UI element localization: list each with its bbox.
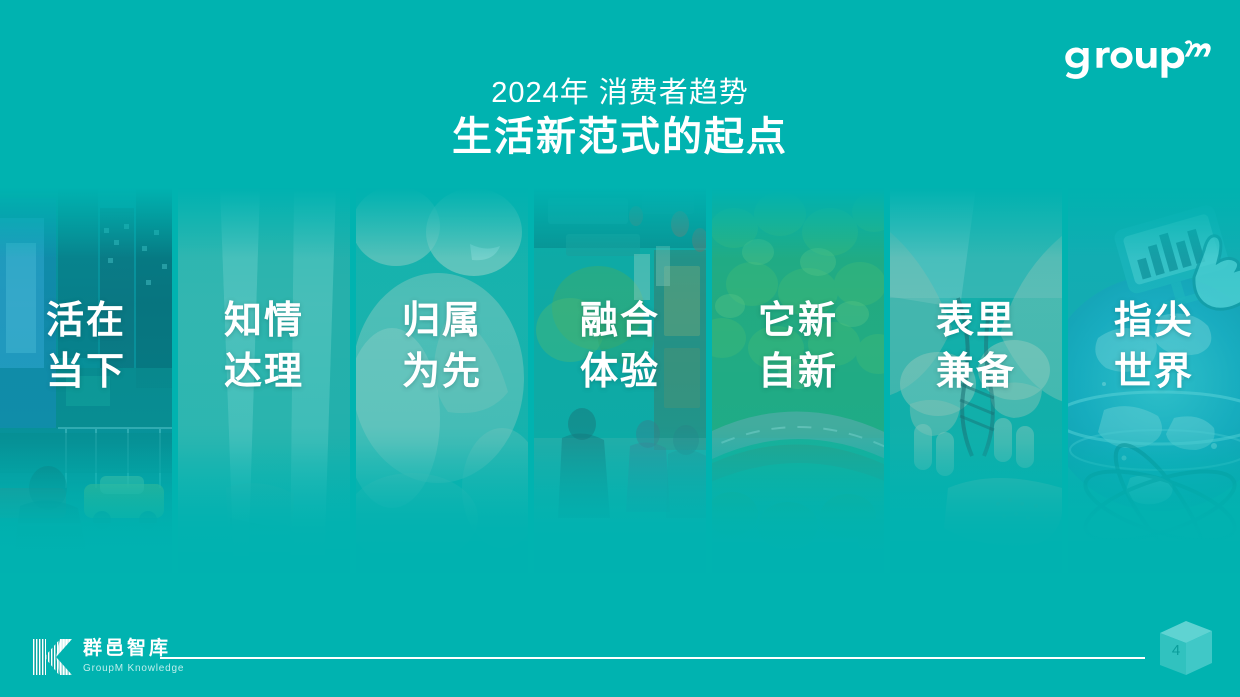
panel-7-world-at-fingertips[interactable]: 指尖 世界: [1068, 188, 1240, 573]
slide-subtitle: 2024年 消费者趋势: [0, 78, 1240, 110]
footer-logo-text: 群邑智库 GroupM Knowledge: [83, 639, 184, 675]
panel-6-line2: 兼备: [890, 347, 1062, 398]
panel-7-line1: 指尖: [1068, 296, 1240, 347]
footer-divider: [160, 657, 1145, 659]
panel-6-label: 表里 兼备: [890, 296, 1062, 397]
page-number-cube: 4: [1152, 617, 1218, 679]
panel-7-label: 指尖 世界: [1068, 296, 1240, 397]
groupm-knowledge-logo: 群邑智库 GroupM Knowledge: [30, 635, 184, 679]
trend-panel-strip: 活在 当下 知: [0, 188, 1240, 573]
title-block: 2024年 消费者趋势 生活新范式的起点: [0, 78, 1240, 160]
panel-6-line1: 表里: [890, 296, 1062, 347]
panel-2-label: 知情 达理: [178, 296, 350, 397]
panel-2-line1: 知情: [178, 296, 350, 347]
panel-4-line1: 融合: [534, 296, 706, 347]
panel-3-line2: 为先: [356, 347, 528, 398]
panel-5-line2: 自新: [712, 347, 884, 398]
panel-4-line2: 体验: [534, 347, 706, 398]
groupm-logo: [1058, 30, 1218, 82]
panel-2-line2: 达理: [178, 347, 350, 398]
slide-root: 2024年 消费者趋势 生活新范式的起点: [0, 0, 1240, 697]
panel-7-line2: 世界: [1068, 347, 1240, 398]
panel-1-label: 活在 当下: [0, 296, 172, 397]
panel-5-line1: 它新: [712, 296, 884, 347]
slide-title: 生活新范式的起点: [0, 114, 1240, 160]
k-halftone-icon: [30, 635, 74, 679]
panel-3-label: 归属 为先: [356, 296, 528, 397]
panel-1-live-in-the-moment[interactable]: 活在 当下: [0, 188, 172, 573]
panel-4-label: 融合 体验: [534, 296, 706, 397]
panel-4-blended-experience[interactable]: 融合 体验: [534, 188, 706, 573]
page-number: 4: [1152, 643, 1200, 658]
panel-5-renewal[interactable]: 它新 自新: [712, 188, 884, 573]
panel-1-line2: 当下: [0, 347, 172, 398]
panel-5-label: 它新 自新: [712, 296, 884, 397]
panel-2-well-informed[interactable]: 知情 达理: [178, 188, 350, 573]
footer-name-en: GroupM Knowledge: [83, 662, 184, 675]
panel-3-belonging-first[interactable]: 归属 为先: [356, 188, 528, 573]
footer-name-cn: 群邑智库: [83, 639, 184, 660]
panel-3-line1: 归属: [356, 296, 528, 347]
panel-1-line1: 活在: [0, 296, 172, 347]
panel-6-inside-and-out[interactable]: 表里 兼备: [890, 188, 1062, 573]
